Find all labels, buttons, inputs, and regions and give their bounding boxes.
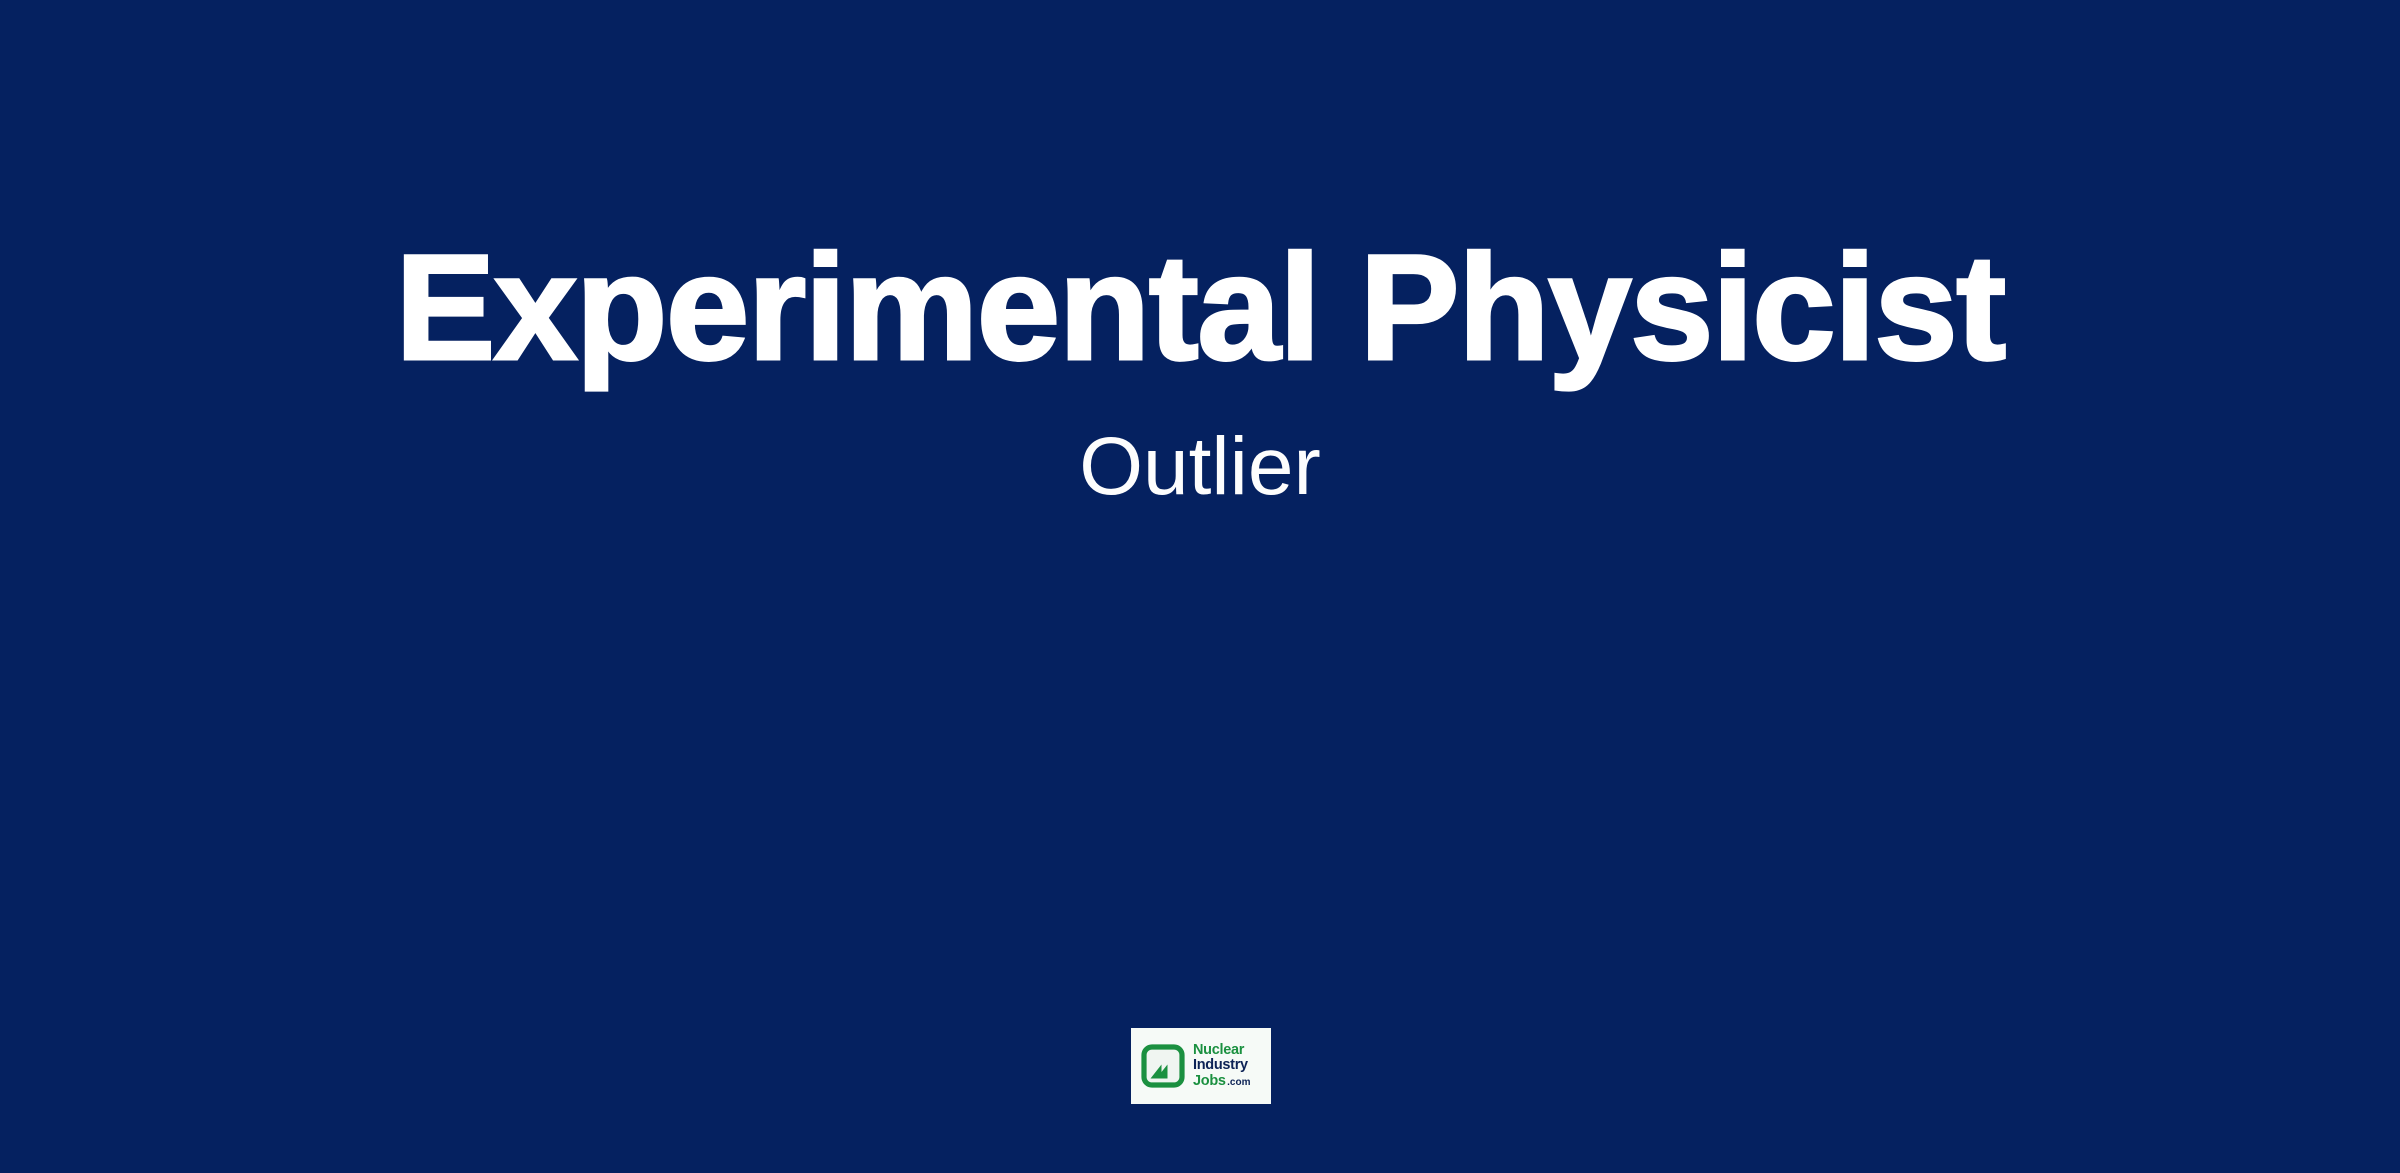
logo-line-nuclear: Nuclear [1193,1043,1251,1059]
logo-badge[interactable]: Nuclear Industry Jobs .com [1131,1028,1271,1104]
logo-wordmark: Nuclear Industry Jobs .com [1193,1043,1251,1090]
logo-line-dotcom: .com [1227,1078,1250,1089]
logo-line-industry: Industry [1193,1058,1251,1074]
page-title: Experimental Physicist [395,232,2004,382]
logo-line-jobs: Jobs [1193,1074,1226,1090]
company-name: Outlier [1079,382,1321,508]
nuclear-industry-jobs-mark-icon [1140,1043,1186,1089]
job-posting-card: Experimental Physicist Outlier Nuclear I… [0,0,2400,1173]
logo-line-jobs-row: Jobs .com [1193,1074,1251,1090]
hero-block: Experimental Physicist Outlier [0,0,2400,740]
